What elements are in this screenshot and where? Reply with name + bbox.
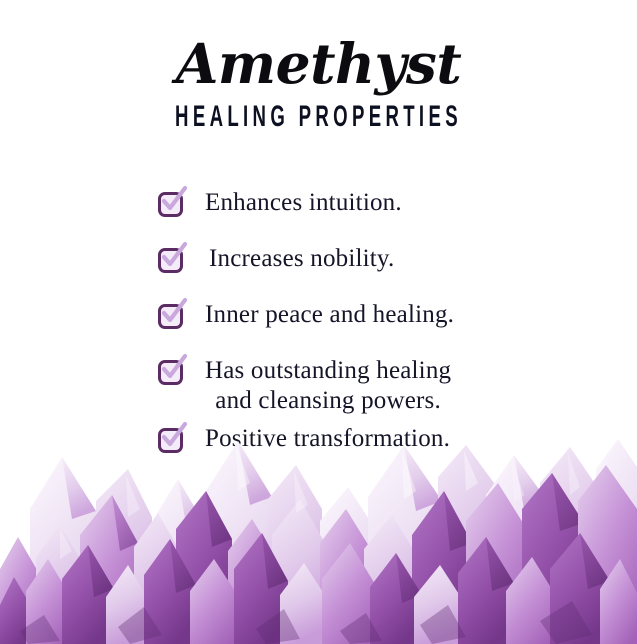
list-item-label: Inner peace and healing. bbox=[205, 300, 454, 330]
list-item-label: Has outstanding healing and cleansing po… bbox=[205, 356, 451, 416]
amethyst-crystal-cluster-image bbox=[0, 439, 637, 644]
list-item-label: Enhances intuition. bbox=[205, 188, 402, 218]
checkbox-checked-icon bbox=[158, 360, 183, 385]
checkbox-checked-icon bbox=[158, 304, 183, 329]
list-item: Enhances intuition. bbox=[158, 188, 402, 218]
list-item-label: Increases nobility. bbox=[205, 244, 394, 274]
poster-header: Amethyst HEALING PROPERTIES bbox=[0, 34, 637, 133]
list-item: Has outstanding healing and cleansing po… bbox=[158, 356, 451, 416]
checkbox-checked-icon bbox=[158, 248, 183, 273]
page-title: Amethyst bbox=[0, 34, 637, 94]
list-item: Inner peace and healing. bbox=[158, 300, 454, 330]
checkbox-checked-icon bbox=[158, 192, 183, 217]
amethyst-healing-properties-poster: Amethyst HEALING PROPERTIES Enhances int… bbox=[0, 0, 637, 644]
list-item: Increases nobility. bbox=[158, 244, 394, 274]
page-subtitle: HEALING PROPERTIES bbox=[121, 101, 516, 133]
